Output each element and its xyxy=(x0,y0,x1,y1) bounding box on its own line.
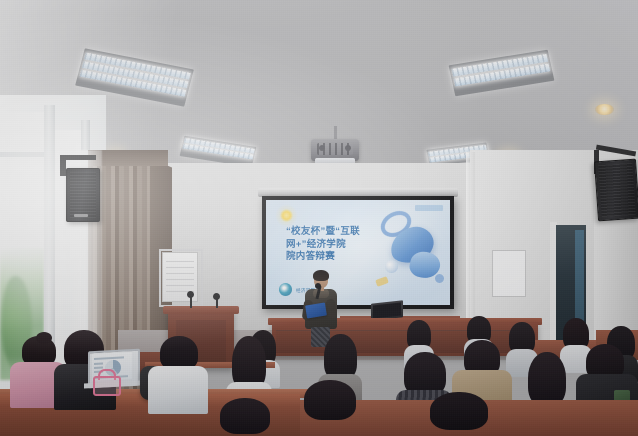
projector-mount-pole xyxy=(334,126,337,140)
podium-mic-right xyxy=(213,293,220,300)
projection-screen: “校友杯”暨“互联 网+”经济学院 院内答辩赛 经济学院 xyxy=(262,196,454,309)
audience-front-left-back-head xyxy=(214,398,280,436)
audience-front-right-2 xyxy=(420,392,500,436)
lecture-hall-photo: “校友杯”暨“互联 网+”经济学院 院内答辩赛 经济学院 xyxy=(0,0,638,436)
wall-speaker-left xyxy=(66,168,100,222)
notice-board-right xyxy=(492,250,526,297)
audience-white-shirt xyxy=(148,336,208,412)
hair-bun xyxy=(36,332,52,344)
podium-top xyxy=(163,306,239,314)
window-transom xyxy=(0,152,46,157)
downlight-6 xyxy=(595,104,614,115)
presenter-hair xyxy=(313,270,329,281)
presentation-slide: “校友杯”暨“互联 网+”经济学院 院内答辩赛 经济学院 xyxy=(266,200,450,305)
handheld-microphone-icon xyxy=(315,283,321,289)
wall-speaker-right xyxy=(594,159,638,222)
pink-handbag xyxy=(93,376,121,396)
podium-mic-left xyxy=(187,291,194,298)
audience-front-right-1 xyxy=(296,380,366,436)
ceiling-projector xyxy=(311,139,359,161)
